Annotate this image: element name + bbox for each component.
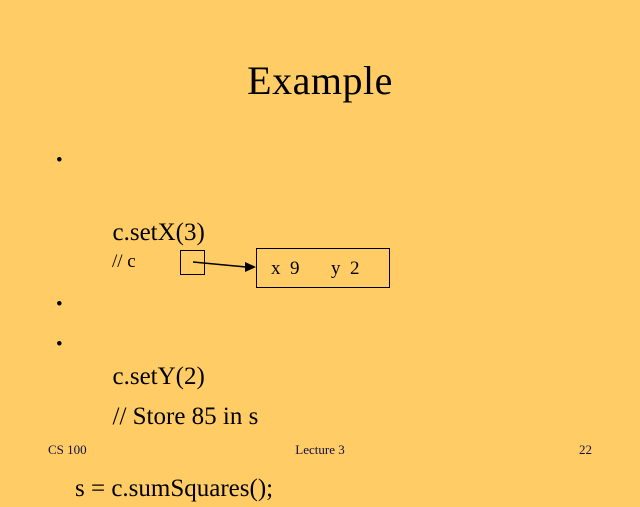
bullet-dot-icon: • [56, 287, 63, 323]
list-item: • c.setX(3) [48, 143, 608, 287]
list-item-continuation: s = c.sumSquares(); [48, 471, 608, 507]
list-item-label: // Store 85 in s [113, 403, 259, 430]
bullet-dot-icon: • [56, 143, 63, 179]
slide: Example • c.setX(3) • c.setY(2) // c x 9… [0, 0, 640, 480]
bullet-list-bottom: • // Store 85 in s s = c.sumSquares(); [48, 327, 608, 507]
footer-page-number: 22 [0, 441, 592, 458]
bullet-dot-icon: • [56, 327, 63, 363]
page-title: Example [0, 57, 640, 105]
list-item-label: c.setX(3) [113, 219, 205, 246]
